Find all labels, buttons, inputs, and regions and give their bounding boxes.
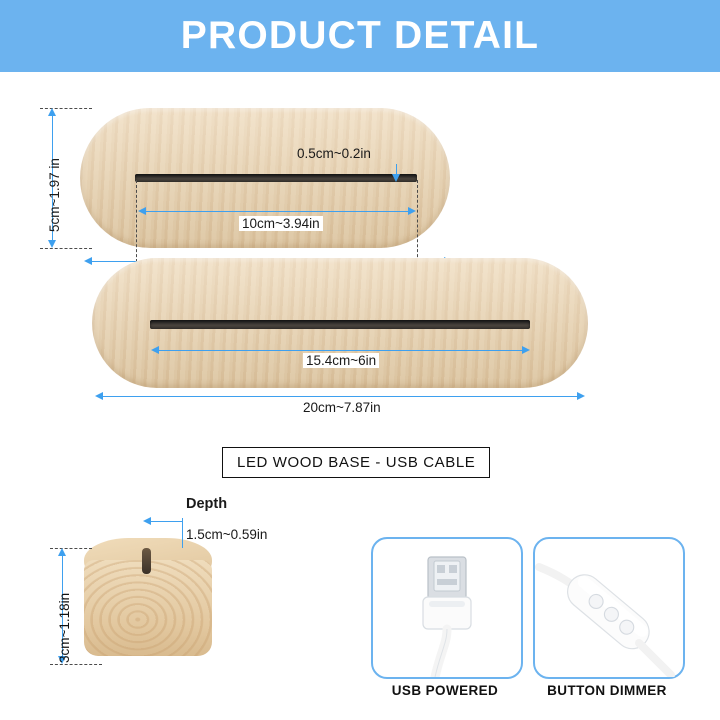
depth-leader-horizontal	[150, 521, 183, 522]
usb-connector-icon	[373, 539, 521, 677]
small-base-height-label: 5cm~1.97 in	[47, 158, 62, 232]
page-title: PRODUCT DETAIL	[181, 14, 539, 58]
small-base-slot	[135, 174, 417, 182]
wood-cube-front-face	[84, 560, 212, 656]
section-caption: LED WOOD BASE - USB CABLE	[222, 447, 490, 478]
large-base-slot-length-line	[159, 350, 522, 351]
small-base-slot-width-label: 0.5cm~0.2in	[297, 146, 371, 161]
usb-powered-panel	[371, 537, 523, 679]
cube-height-arrow-top	[58, 548, 66, 556]
depth-value-label: 1.5cm~0.59in	[186, 527, 267, 542]
small-base-height-arrow-top	[48, 108, 56, 116]
small-base-slot-length-arrow-right	[408, 207, 416, 215]
header-bar: PRODUCT DETAIL	[0, 0, 720, 72]
usb-powered-caption: USB POWERED	[371, 683, 519, 698]
button-dimmer-caption: BUTTON DIMMER	[533, 683, 681, 698]
large-base-width-arrow-left	[95, 392, 103, 400]
wood-cube	[78, 538, 218, 658]
large-base-width-arrow-right	[577, 392, 585, 400]
small-base-slot-width-arrow	[392, 174, 400, 182]
small-base-height-arrow-bottom	[48, 240, 56, 248]
cube-height-label: 3cm~1.18in	[57, 593, 72, 663]
button-dimmer-panel	[533, 537, 685, 679]
depth-leader-arrow	[143, 517, 151, 525]
small-base-slot-length-arrow-left	[138, 207, 146, 215]
large-base-slot	[150, 320, 530, 329]
small-base-slot-length-label: 10cm~3.94in	[239, 216, 323, 231]
cube-bottom-extension	[50, 664, 102, 665]
depth-leader-line	[182, 518, 183, 548]
large-base-slot-length-label: 15.4cm~6in	[303, 353, 379, 368]
small-base-slot-right-extension	[417, 180, 418, 262]
small-base-bottom-extension	[40, 248, 92, 249]
cube-drill-hole	[142, 548, 151, 574]
small-base-width-arrow-left	[84, 257, 92, 265]
product-detail-infographic: PRODUCT DETAIL 5cm~1.97 in 0.5cm~0.2in 1…	[0, 0, 720, 720]
large-base-slot-length-arrow-right	[522, 346, 530, 354]
small-base-slot-left-extension	[136, 180, 137, 262]
large-base-width-line	[103, 396, 577, 397]
cube-top-extension	[50, 548, 92, 549]
inline-dimmer-switch-icon	[535, 539, 683, 677]
large-base-slot-length-arrow-left	[151, 346, 159, 354]
depth-title: Depth	[186, 496, 227, 512]
large-base-width-label: 20cm~7.87in	[303, 400, 381, 415]
small-base-slot-length-line	[146, 211, 408, 212]
